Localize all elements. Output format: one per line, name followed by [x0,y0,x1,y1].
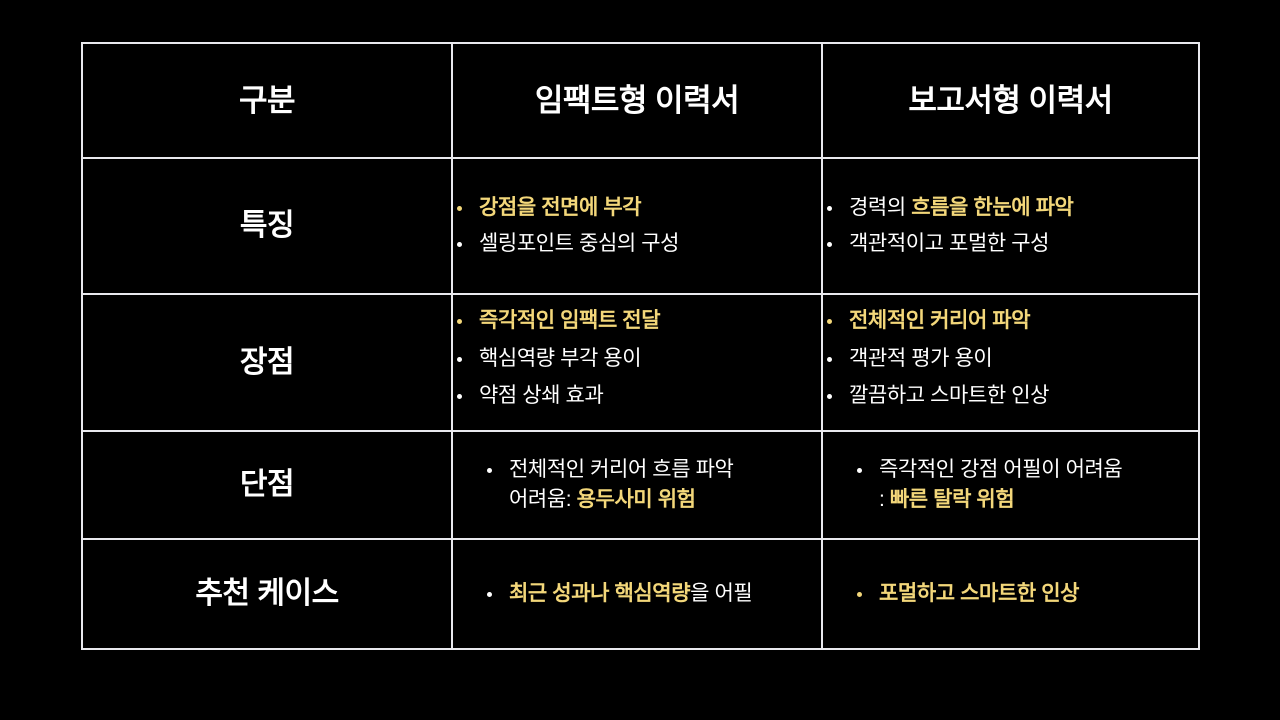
bullet-text: 약점 상쇄 효과 [479,384,603,407]
bullet-list: 즉각적인 임팩트 전달핵심역량 부각 용이약점 상쇄 효과 [453,306,821,411]
bullet-text: 객관적이고 포멀한 구성 [849,232,1049,255]
table-row: 단점 전체적인 커리어 흐름 파악 어려움: 용두사미 위험 즉각적인 강점 어… [82,431,1199,539]
cell-feature-report: 경력의 흐름을 한눈에 파악객관적이고 포멀한 구성 [822,158,1199,294]
bullet-item: 강점을 전면에 부각 [453,193,821,223]
cell-merit-report: 전체적인 커리어 파악객관적 평가 용이깔끔하고 스마트한 인상 [822,294,1199,431]
bullet-item: 셀링포인트 중심의 구성 [453,229,821,259]
cell-case-report: 포멀하고 스마트한 인상 [822,539,1199,649]
bullet-list: 포멀하고 스마트한 인상 [853,579,1198,609]
header-cell-category: 구분 [82,43,452,158]
bullet-item: 즉각적인 임팩트 전달 [453,306,821,336]
row-label-cell-merit: 장점 [82,294,452,431]
table-row: 장점 즉각적인 임팩트 전달핵심역량 부각 용이약점 상쇄 효과 전체적인 커리… [82,294,1199,431]
bullet-list: 전체적인 커리어 흐름 파악 어려움: 용두사미 위험 [483,455,821,515]
bullet-item: 최근 성과나 핵심역량을 어필 [483,579,821,609]
bullet-text-highlight: 전체적인 커리어 파악 [849,309,1030,332]
bullet-text: 객관적 평가 용이 [849,347,992,370]
bullet-text: 핵심역량 부각 용이 [479,347,641,370]
bullet-text-highlight: 강점을 전면에 부각 [479,196,641,219]
bullet-text-highlight: 포멀하고 스마트한 인상 [879,582,1079,605]
bullet-list: 최근 성과나 핵심역량을 어필 [483,579,821,609]
table-row: 추천 케이스 최근 성과나 핵심역량을 어필 포멀하고 스마트한 인상 [82,539,1199,649]
bullet-item: 약점 상쇄 효과 [453,381,821,411]
row-label-cell-demerit: 단점 [82,431,452,539]
table-body: 특징 강점을 전면에 부각셀링포인트 중심의 구성 경력의 흐름을 한눈에 파악… [82,158,1199,649]
table-row: 특징 강점을 전면에 부각셀링포인트 중심의 구성 경력의 흐름을 한눈에 파악… [82,158,1199,294]
bullet-item: 즉각적인 강점 어필이 어려움 : 빠른 탈락 위험 [853,455,1198,515]
bullet-text: 셀링포인트 중심의 구성 [479,232,679,255]
bullet-text: 을 어필 [690,582,752,605]
row-label-demerit: 단점 [83,467,451,503]
header-cell-impact-resume: 임팩트형 이력서 [452,43,822,158]
header-label-report-resume: 보고서형 이력서 [823,82,1198,119]
bullet-item: 객관적이고 포멀한 구성 [823,229,1198,259]
cell-demerit-report: 즉각적인 강점 어필이 어려움 : 빠른 탈락 위험 [822,431,1199,539]
bullet-item: 객관적 평가 용이 [823,344,1198,374]
row-label-feature: 특징 [83,208,451,244]
cell-merit-impact: 즉각적인 임팩트 전달핵심역량 부각 용이약점 상쇄 효과 [452,294,822,431]
bullet-text-highlight: 흐름을 한눈에 파악 [911,196,1073,219]
bullet-text-highlight: 최근 성과나 핵심역량 [509,582,690,605]
bullet-item: 전체적인 커리어 흐름 파악 어려움: 용두사미 위험 [483,455,821,515]
header-label-impact-resume: 임팩트형 이력서 [453,82,821,119]
slide-canvas: 구분 임팩트형 이력서 보고서형 이력서 특징 강점을 전면에 부각셀링포인트 … [0,0,1280,720]
cell-feature-impact: 강점을 전면에 부각셀링포인트 중심의 구성 [452,158,822,294]
header-label-category: 구분 [83,82,451,119]
bullet-text: 경력의 [849,196,911,219]
bullet-text: 깔끔하고 스마트한 인상 [849,384,1049,407]
bullet-text-highlight: 즉각적인 임팩트 전달 [479,309,660,332]
cell-demerit-impact: 전체적인 커리어 흐름 파악 어려움: 용두사미 위험 [452,431,822,539]
bullet-text-highlight: 용두사미 위험 [577,488,696,511]
cell-case-impact: 최근 성과나 핵심역량을 어필 [452,539,822,649]
bullet-list: 강점을 전면에 부각셀링포인트 중심의 구성 [453,193,821,259]
row-label-cell-feature: 특징 [82,158,452,294]
row-label-case: 추천 케이스 [83,576,451,612]
row-label-cell-case: 추천 케이스 [82,539,452,649]
row-label-merit: 장점 [83,345,451,381]
header-cell-report-resume: 보고서형 이력서 [822,43,1199,158]
bullet-text-highlight: 빠른 탈락 위험 [890,488,1014,511]
bullet-item: 전체적인 커리어 파악 [823,306,1198,336]
bullet-list: 전체적인 커리어 파악객관적 평가 용이깔끔하고 스마트한 인상 [823,306,1198,411]
bullet-item: 경력의 흐름을 한눈에 파악 [823,193,1198,223]
table-header-row: 구분 임팩트형 이력서 보고서형 이력서 [82,43,1199,158]
bullet-item: 포멀하고 스마트한 인상 [853,579,1198,609]
bullet-list: 경력의 흐름을 한눈에 파악객관적이고 포멀한 구성 [823,193,1198,259]
bullet-item: 핵심역량 부각 용이 [453,344,821,374]
bullet-list: 즉각적인 강점 어필이 어려움 : 빠른 탈락 위험 [853,455,1198,515]
resume-comparison-table: 구분 임팩트형 이력서 보고서형 이력서 특징 강점을 전면에 부각셀링포인트 … [81,42,1200,650]
bullet-item: 깔끔하고 스마트한 인상 [823,381,1198,411]
